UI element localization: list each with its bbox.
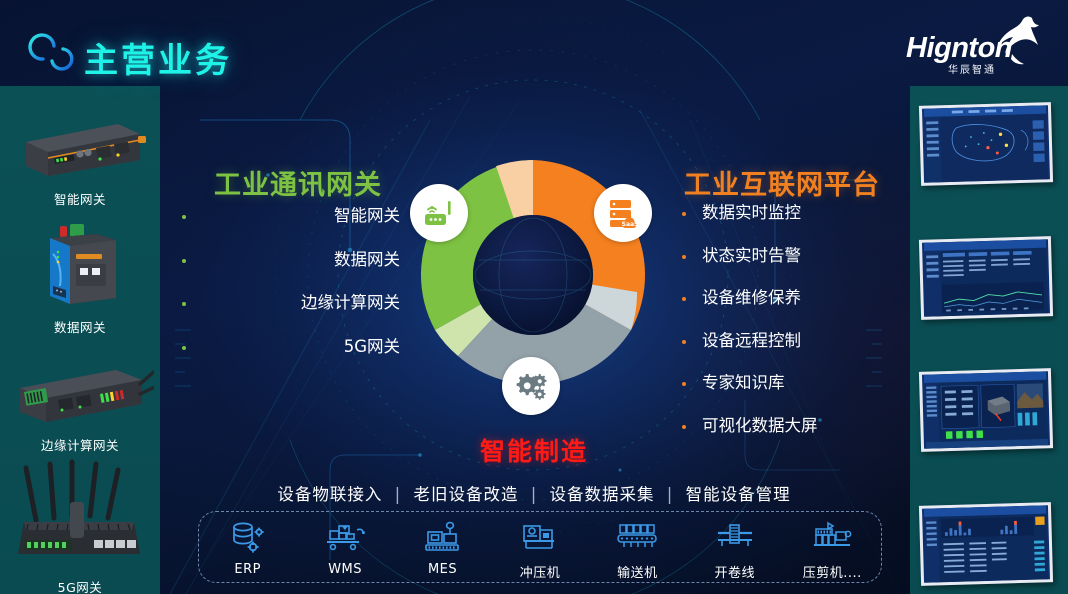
list-item[interactable]: 数据实时监控 bbox=[676, 205, 906, 222]
application-tag-box: ERP WMS bbox=[198, 511, 882, 583]
subtitle-separator: | bbox=[389, 485, 408, 504]
left-column-list: 智能网关 数据网关 边缘计算网关 5G网关 bbox=[200, 208, 402, 382]
subtitle-part: 智能设备管理 bbox=[686, 485, 791, 504]
device-monitor-dashboard-thumb bbox=[922, 371, 1050, 448]
server-saas-icon: SaaS bbox=[606, 197, 640, 229]
alarm-list-dashboard-screenshot[interactable] bbox=[919, 502, 1053, 586]
tag-label: WMS bbox=[301, 562, 389, 577]
svg-text:SaaS: SaaS bbox=[622, 221, 639, 228]
tag-label: 冲压机 bbox=[496, 562, 584, 581]
company-name-cn: 华辰智通 bbox=[948, 61, 996, 76]
list-item[interactable]: 5G网关 bbox=[200, 339, 402, 356]
edge-computing-gateway-device-icon bbox=[6, 348, 154, 426]
subtitle-part: 设备物联接入 bbox=[277, 485, 382, 504]
workstation-icon bbox=[399, 519, 487, 557]
conveyor-machine-icon bbox=[593, 519, 681, 557]
donut-hole bbox=[473, 215, 593, 335]
map-dashboard-thumb bbox=[922, 105, 1050, 182]
tag-item-wms[interactable]: WMS bbox=[301, 519, 389, 577]
right-column-list: 数据实时监控 状态实时告警 设备维修保养 设备远程控制 专家知识库 可视化数据大… bbox=[676, 205, 906, 460]
tag-item-erp[interactable]: ERP bbox=[204, 519, 292, 577]
list-item[interactable]: 状态实时告警 bbox=[676, 248, 906, 265]
product-item-smart-gateway[interactable]: 智能网关 bbox=[0, 102, 160, 208]
product-label: 数据网关 bbox=[0, 317, 160, 336]
map-dashboard-screenshot[interactable] bbox=[919, 102, 1053, 186]
tag-item-stamping-machine[interactable]: 冲压机 bbox=[496, 519, 584, 581]
list-item[interactable]: 边缘计算网关 bbox=[200, 295, 402, 312]
product-label: 边缘计算网关 bbox=[0, 435, 160, 454]
left-column-heading: 工业通讯网关 bbox=[214, 163, 382, 202]
left-product-panel: 智能网关 bbox=[0, 86, 160, 594]
stamping-machine-icon bbox=[496, 519, 584, 557]
warehouse-cart-icon bbox=[301, 519, 389, 557]
shearing-machine-icon bbox=[788, 519, 876, 557]
product-label: 5G网关 bbox=[0, 577, 160, 594]
right-screenshot-panel bbox=[910, 86, 1068, 594]
router-wifi-badge[interactable] bbox=[410, 184, 468, 242]
data-table-dashboard-screenshot[interactable] bbox=[919, 236, 1053, 320]
subtitle-separator: | bbox=[661, 485, 680, 504]
slide-header: 主营业务 Hignton 华辰智通 bbox=[0, 0, 1068, 86]
tag-item-mes[interactable]: MES bbox=[399, 519, 487, 577]
product-item-data-gateway[interactable]: 数据网关 bbox=[0, 218, 160, 336]
slide-root: 主营业务 Hignton 华辰智通 bbox=[0, 0, 1068, 594]
alarm-list-dashboard-thumb bbox=[922, 505, 1050, 582]
gears-badge[interactable] bbox=[502, 357, 560, 415]
uncoiling-line-icon bbox=[691, 519, 779, 557]
list-item[interactable]: 设备维修保养 bbox=[676, 290, 906, 307]
tag-item-uncoiling-line[interactable]: 开卷线 bbox=[691, 519, 779, 581]
product-item-5g-gateway[interactable]: 5G网关 bbox=[0, 458, 160, 594]
company-logo: Hignton 华辰智通 bbox=[904, 12, 1054, 78]
gears-icon bbox=[514, 370, 548, 402]
list-item[interactable]: 设备远程控制 bbox=[676, 333, 906, 350]
router-wifi-icon bbox=[422, 197, 456, 229]
page-title: 主营业务 bbox=[84, 33, 232, 82]
product-label: 智能网关 bbox=[0, 189, 160, 208]
subtitle-part: 老旧设备改造 bbox=[413, 485, 518, 504]
5g-gateway-router-device-icon bbox=[6, 458, 154, 568]
data-gateway-device-icon bbox=[6, 218, 154, 308]
tag-item-conveyor[interactable]: 输送机 bbox=[593, 519, 681, 581]
device-monitor-dashboard-screenshot[interactable] bbox=[919, 368, 1053, 452]
smart-gateway-device-icon bbox=[6, 102, 154, 180]
tag-label: 开卷线 bbox=[691, 562, 779, 581]
tag-label: ERP bbox=[204, 562, 292, 577]
center-subtitle: 设备物联接入 | 老旧设备改造 | 设备数据采集 | 智能设备管理 bbox=[0, 481, 1068, 505]
center-title: 智能制造 bbox=[0, 432, 1068, 468]
tag-label: 压剪机.... bbox=[788, 562, 876, 581]
tag-label: 输送机 bbox=[593, 562, 681, 581]
right-column-heading: 工业互联网平台 bbox=[684, 163, 880, 202]
subtitle-separator: | bbox=[525, 485, 544, 504]
database-gears-icon bbox=[204, 519, 292, 557]
data-table-dashboard-thumb bbox=[922, 239, 1050, 316]
list-item[interactable]: 智能网关 bbox=[200, 208, 402, 225]
interlocking-circles-logo-icon bbox=[26, 28, 80, 80]
list-item[interactable]: 数据网关 bbox=[200, 252, 402, 269]
server-saas-badge[interactable]: SaaS bbox=[594, 184, 652, 242]
list-item[interactable]: 专家知识库 bbox=[676, 375, 906, 392]
subtitle-part: 设备数据采集 bbox=[550, 485, 655, 504]
tag-item-shearing-machine[interactable]: 压剪机.... bbox=[788, 519, 876, 581]
product-item-edge-gateway[interactable]: 边缘计算网关 bbox=[0, 348, 160, 454]
tag-label: MES bbox=[399, 562, 487, 577]
